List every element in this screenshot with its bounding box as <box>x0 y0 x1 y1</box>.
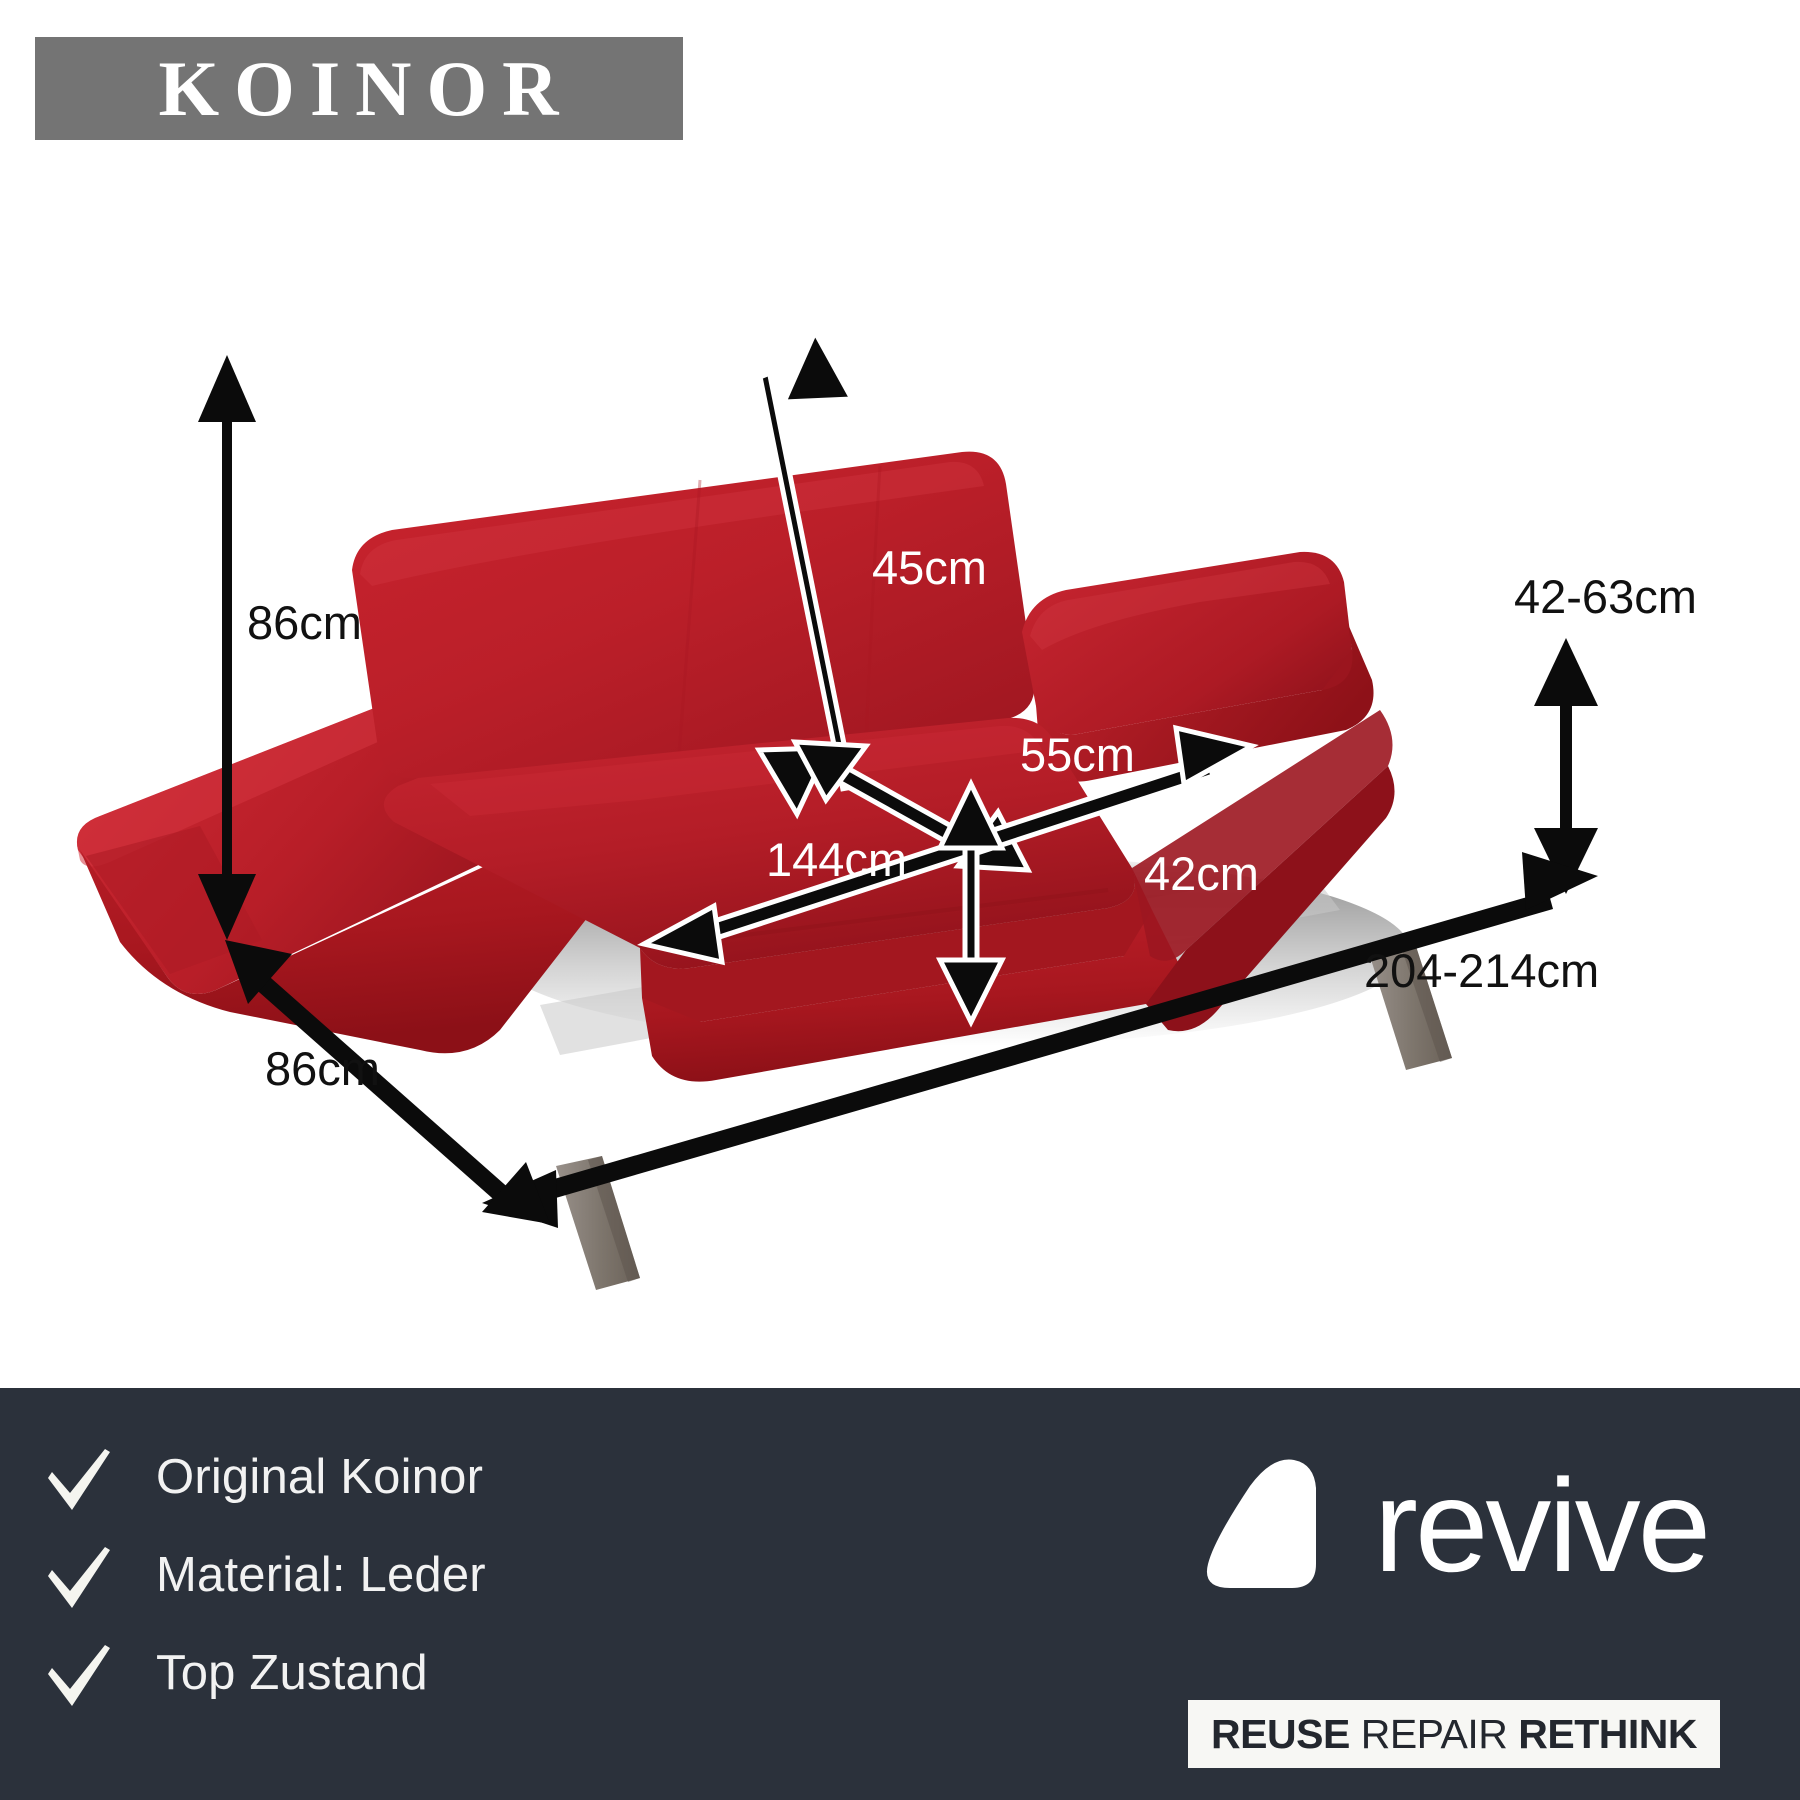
dimension-label-seat-depth: 55cm <box>1020 731 1135 778</box>
feature-item: Material: Leder <box>42 1526 486 1624</box>
koinor-brand-logo: KOINOR <box>35 37 683 140</box>
tagline-word-rethink: RETHINK <box>1518 1714 1697 1755</box>
revive-tagline-bar: REUSE REPAIR RETHINK <box>1188 1700 1720 1768</box>
feature-label: Top Zustand <box>156 1645 428 1701</box>
tagline-word-repair: REPAIR <box>1361 1714 1508 1755</box>
tagline-word-reuse: REUSE <box>1211 1714 1350 1755</box>
feature-label: Material: Leder <box>156 1547 486 1603</box>
revive-logo: revive <box>1135 1436 1755 1616</box>
revive-wordmark: revive <box>1374 1460 1708 1592</box>
dimension-label-arm-height: 42-63cm <box>1514 573 1697 620</box>
dimension-label-total-height: 86cm <box>247 599 362 646</box>
brand-name: KOINOR <box>144 50 573 128</box>
feature-item: Original Koinor <box>42 1428 486 1526</box>
sofa-illustration <box>0 150 1800 1380</box>
dimension-label-total-width: 204-214cm <box>1364 947 1599 994</box>
product-listing-image: KOINOR <box>0 0 1800 1800</box>
dimension-label-backrest-height: 45cm <box>872 544 987 591</box>
feature-list: Original Koinor Material: Leder Top Zust… <box>42 1428 486 1722</box>
revive-droplet-icon <box>1190 1448 1342 1605</box>
revive-branding: revive REUSE REPAIR RETHINK <box>1135 1436 1755 1616</box>
dimension-label-total-depth: 86cm <box>265 1045 380 1092</box>
check-mark-icon <box>42 1538 116 1612</box>
check-mark-icon <box>42 1440 116 1514</box>
arrow-arm-height <box>1534 638 1598 894</box>
feature-label: Original Koinor <box>156 1449 483 1505</box>
dimension-label-seat-width: 144cm <box>766 836 907 883</box>
product-photo: 86cm 45cm 55cm 144cm 42cm 42-63cm 204-21… <box>0 150 1800 1380</box>
check-mark-icon <box>42 1636 116 1710</box>
dimension-label-seat-height: 42cm <box>1144 850 1259 897</box>
footer-bar: Original Koinor Material: Leder Top Zust… <box>0 1388 1800 1800</box>
feature-item: Top Zustand <box>42 1624 486 1722</box>
